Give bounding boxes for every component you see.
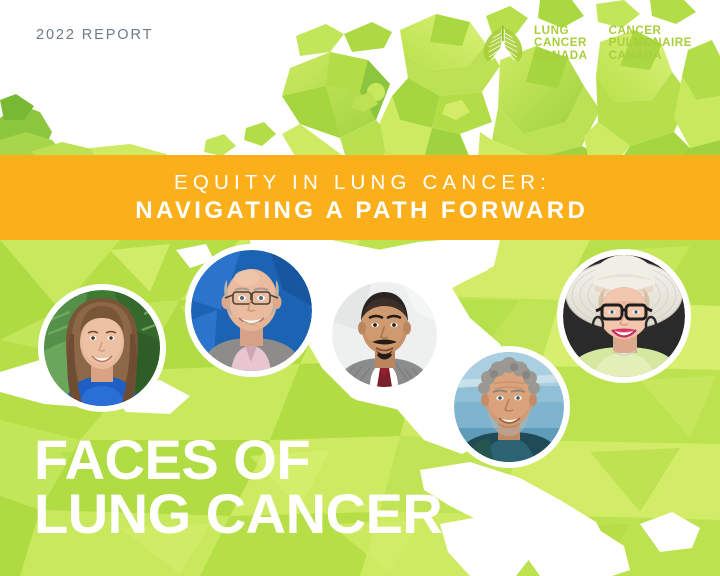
portrait-woman-sun-hat [557,249,691,383]
logo-text-english: LUNG CANCER CANADA [534,22,588,62]
lung-leaf-icon [481,23,525,69]
portrait-man-glasses-suit [185,244,318,377]
portrait-man-outdoors-grey-hair [448,346,570,468]
lung-cancer-canada-logo: LUNG CANCER CANADA CANCER PULMONAIRE CAN… [481,22,692,69]
logo-fr-line-3: CANADA [609,50,692,62]
logo-fr-line-2: PULMONAIRE [609,37,692,49]
logo-text-french: CANCER PULMONAIRE CANADA [609,22,692,62]
banner-title: NAVIGATING A PATH FORWARD [132,197,588,225]
title-banner: EQUITY IN LUNG CANCER: NAVIGATING A PATH… [0,155,720,240]
page-title-line-1: FACES OF [34,433,442,487]
banner-subtitle: EQUITY IN LUNG CANCER: [169,171,551,195]
report-cover: 2022 REPORT [0,0,720,576]
page-title-line-2: LUNG CANCER [34,487,442,541]
page-title: FACES OF LUNG CANCER [34,433,442,541]
logo-en-line-2: CANCER [534,37,588,49]
report-year-label: 2022 REPORT [36,27,153,43]
portrait-man-moustache-tie [327,277,442,392]
logo-en-line-3: CANADA [534,50,588,62]
portrait-woman-blue-shirt [38,284,166,412]
